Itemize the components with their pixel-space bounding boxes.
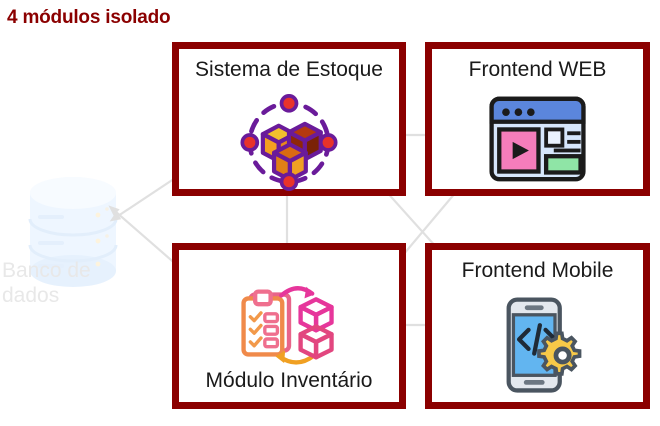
module-box-frontend-web[interactable]: Frontend WEB (425, 42, 650, 196)
mobile-code-gear-icon (486, 294, 590, 398)
module-box-modulo-inventario[interactable]: Módulo Inventário (172, 243, 406, 409)
module-box-sistema-estoque[interactable]: Sistema de Estoque (172, 42, 406, 196)
module-label-frontend-mobile: Frontend Mobile (432, 259, 643, 283)
module-label-frontend-web: Frontend WEB (432, 58, 643, 82)
browser-window-icon (483, 91, 593, 187)
connected-cubes-icon (233, 91, 345, 194)
diagram-canvas: 4 módulos isolado (0, 0, 660, 426)
clipboard-boxes-cycle-icon (231, 276, 347, 373)
module-box-frontend-mobile[interactable]: Frontend Mobile (425, 243, 650, 409)
module-label-sistema-estoque: Sistema de Estoque (179, 58, 399, 82)
